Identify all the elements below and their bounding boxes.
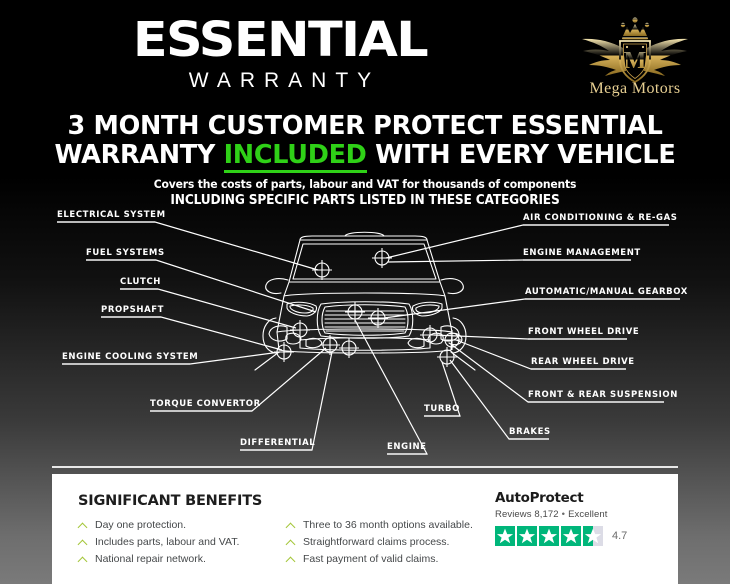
diagram-label: FRONT & REAR SUSPENSION — [528, 390, 678, 400]
star-full-icon — [517, 526, 537, 546]
benefits-column-left: Day one protection.Includes parts, labou… — [78, 518, 239, 569]
benefit-label: Day one protection. — [95, 518, 186, 532]
diagram-label: CLUTCH — [120, 277, 161, 287]
reviews-count: Reviews 8,172 — [495, 509, 559, 520]
benefit-item: Fast payment of valid claims. — [286, 552, 473, 566]
diagram-label: BRAKES — [509, 427, 551, 437]
page-subtitle: WARRANTY — [0, 68, 560, 94]
autoprotect-rating-block: AutoProtect Reviews 8,172•Excellent 4.7 — [495, 490, 665, 546]
diagram-label: FRONT WHEEL DRIVE — [528, 327, 639, 337]
chevron-up-icon — [286, 535, 297, 549]
page-title: ESSENTIAL — [0, 14, 577, 66]
benefit-item: Day one protection. — [78, 518, 239, 532]
benefits-heading: SIGNIFICANT BENEFITS — [78, 493, 262, 509]
star-full-icon — [495, 526, 515, 546]
poster-title-block: ESSENTIAL WARRANTY — [0, 14, 560, 94]
autoprotect-reviews-line: Reviews 8,172•Excellent — [495, 509, 665, 520]
benefit-label: Three to 36 month options available. — [303, 518, 473, 532]
autoprotect-name: AutoProtect — [495, 490, 665, 506]
mega-motors-logo: M Mega Motors — [560, 8, 710, 106]
diagram-label: ELECTRICAL SYSTEM — [57, 210, 166, 220]
warranty-poster: ESSENTIAL WARRANTY — [0, 0, 730, 584]
diagram-label: AUTOMATIC/MANUAL GEARBOX — [525, 287, 688, 297]
star-full-icon — [561, 526, 581, 546]
logo-wordmark: Mega Motors — [560, 80, 710, 98]
benefits-card: SIGNIFICANT BENEFITS Day one protection.… — [52, 474, 678, 584]
diagram-label: ENGINE MANAGEMENT — [523, 248, 641, 258]
diagram-label: ENGINE — [387, 442, 427, 452]
diagram-label: TORQUE CONVERTOR — [150, 399, 261, 409]
headline-highlight: INCLUDED — [224, 140, 367, 173]
star-half-icon — [583, 526, 603, 546]
benefit-item: Includes parts, labour and VAT. — [78, 535, 239, 549]
chevron-up-icon — [286, 518, 297, 532]
diagram-label: PROPSHAFT — [101, 305, 164, 315]
benefits-column-right: Three to 36 month options available.Stra… — [286, 518, 473, 569]
trustpilot-stars: 4.7 — [495, 526, 665, 546]
benefit-label: Fast payment of valid claims. — [303, 552, 438, 566]
diagram-label: AIR CONDITIONING & RE-GAS — [523, 213, 677, 223]
headline-line-2: WARRANTY INCLUDED WITH EVERY VEHICLE — [0, 141, 730, 170]
benefit-label: Straightforward claims process. — [303, 535, 449, 549]
chevron-up-icon — [78, 552, 89, 566]
headline-line-2-before: WARRANTY — [55, 140, 224, 170]
benefit-label: Includes parts, labour and VAT. — [95, 535, 239, 549]
car-component-diagram: ELECTRICAL SYSTEMFUEL SYSTEMSCLUTCHPROPS… — [0, 200, 730, 465]
diagram-label: TURBO — [424, 404, 460, 414]
headline: 3 MONTH CUSTOMER PROTECT ESSENTIAL WARRA… — [0, 112, 730, 170]
benefit-item: Straightforward claims process. — [286, 535, 473, 549]
rating-word: Excellent — [568, 509, 607, 520]
chevron-up-icon — [78, 535, 89, 549]
diagram-label: DIFFERENTIAL — [240, 438, 315, 448]
reviews-separator: • — [559, 509, 568, 520]
rating-score: 4.7 — [612, 530, 627, 542]
benefit-item: National repair network. — [78, 552, 239, 566]
chevron-up-icon — [286, 552, 297, 566]
logo-monogram: M — [624, 48, 647, 74]
headline-line-2-after: WITH EVERY VEHICLE — [367, 140, 676, 170]
diagram-label: FUEL SYSTEMS — [86, 248, 165, 258]
sub-headline-line-1: Covers the costs of parts, labour and VA… — [22, 177, 708, 192]
benefit-label: National repair network. — [95, 552, 206, 566]
card-top-divider — [52, 466, 678, 468]
chevron-up-icon — [78, 518, 89, 532]
headline-line-1: 3 MONTH CUSTOMER PROTECT ESSENTIAL — [0, 112, 730, 141]
diagram-label: ENGINE COOLING SYSTEM — [62, 352, 198, 362]
benefit-item: Three to 36 month options available. — [286, 518, 473, 532]
star-full-icon — [539, 526, 559, 546]
diagram-label: REAR WHEEL DRIVE — [531, 357, 635, 367]
